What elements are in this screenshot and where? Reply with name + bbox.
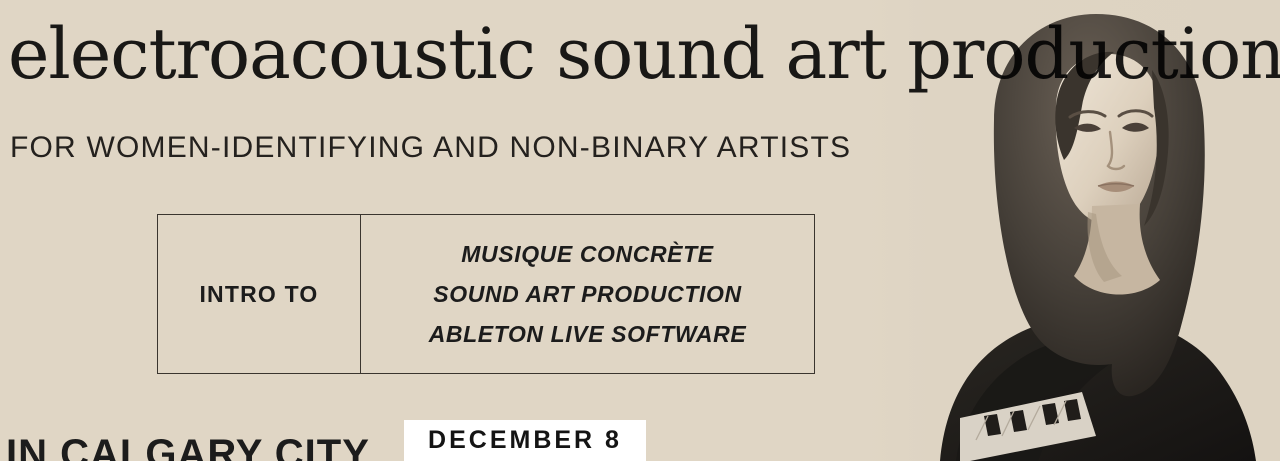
info-box-left-cell: INTRO TO xyxy=(158,215,361,373)
city-line: IN CALGARY CITY xyxy=(6,432,370,461)
date-band: DECEMBER 8 xyxy=(404,420,646,461)
intro-to-label: INTRO TO xyxy=(199,281,318,308)
info-box-right-cell: MUSIQUE CONCRÈTE SOUND ART PRODUCTION AB… xyxy=(361,215,814,373)
poster-subhead: FOR WOMEN-IDENTIFYING AND NON-BINARY ART… xyxy=(10,131,851,165)
topic-item-2: SOUND ART PRODUCTION xyxy=(433,281,741,308)
info-box: INTRO TO MUSIQUE CONCRÈTE SOUND ART PROD… xyxy=(157,214,815,374)
topic-item-3: ABLETON LIVE SOFTWARE xyxy=(429,321,747,348)
poster-canvas: electroacoustic sound art production FOR… xyxy=(0,0,1280,461)
poster-headline: electroacoustic sound art production xyxy=(8,16,1273,92)
topic-item-1: MUSIQUE CONCRÈTE xyxy=(461,241,713,268)
date-text: DECEMBER 8 xyxy=(428,426,622,455)
